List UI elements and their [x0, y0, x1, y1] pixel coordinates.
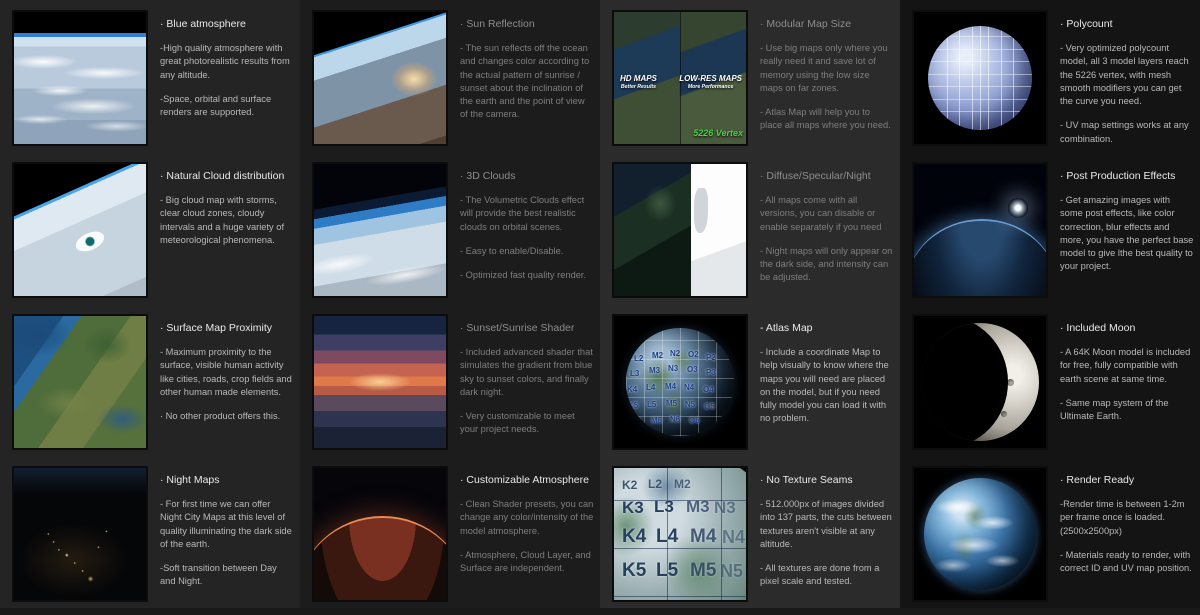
card-paragraph: - The Volumetric Clouds effect will prov… — [460, 194, 594, 234]
atlas-cell: M6 — [651, 416, 662, 425]
lens-flare-icon — [1008, 198, 1028, 218]
feature-card-no-texture-seams[interactable]: K2 L2 M2 K3 L3 M3 N3 K4 L4 M4 N4 K5 L5 M… — [600, 456, 900, 608]
parallel-line — [928, 111, 1032, 112]
atlas-cell: N5 — [685, 400, 695, 409]
card-paragraph: - Maximum proximity to the surface, visi… — [160, 346, 294, 399]
feature-card-diffuse-specular-night[interactable]: · Diffuse/Specular/Night - All maps come… — [600, 152, 900, 304]
atlas-globe: L2 M2 N2 O2 P2 L3 M3 N3 O3 P3 K4 L4 — [626, 328, 734, 436]
atlas-cell: K2 — [622, 478, 637, 492]
card-title: · Blue atmosphere — [160, 18, 294, 31]
atlas-cell: K5 — [622, 560, 646, 582]
card-title: · Sun Reflection — [460, 18, 594, 31]
atlas-cell: M2 — [652, 351, 663, 360]
specular-map-side — [691, 164, 746, 296]
card-copy: · Post Production Effects - Get amazing … — [1048, 162, 1194, 274]
thumbnail-night-maps[interactable] — [12, 466, 148, 602]
card-paragraph: - Clean Shader presets, you can change a… — [460, 498, 594, 538]
full-earth-image — [914, 468, 1046, 600]
card-paragraph: - Use big maps only where you really nee… — [760, 42, 894, 95]
thumbnail-blue-atmosphere[interactable] — [12, 10, 148, 146]
card-title: · Diffuse/Specular/Night — [760, 170, 894, 183]
thumbnail-no-texture-seams[interactable]: K2 L2 M2 K3 L3 M3 N3 K4 L4 M4 N4 K5 L5 M… — [612, 466, 748, 602]
card-title: · No Texture Seams — [760, 474, 894, 487]
atlas-cell: L4 — [656, 526, 678, 548]
atlas-cell: L5 — [647, 400, 656, 409]
feature-card-sunset-sunrise-shader[interactable]: · Sunset/Sunrise Shader - Included advan… — [300, 304, 600, 456]
atlas-cell: K4 — [627, 385, 637, 394]
red-atmosphere-limb-image — [314, 468, 446, 600]
atlas-cell: N2 — [670, 349, 680, 358]
atlas-grid-closeup-image: K2 L2 M2 K3 L3 M3 N3 K4 L4 M4 N4 K5 L5 M… — [614, 468, 746, 600]
parallel-line — [928, 61, 1032, 62]
card-title: · Included Moon — [1060, 322, 1194, 335]
vertex-count-label: 5226 Vertex — [693, 128, 743, 138]
atlas-cell: M3 — [649, 366, 660, 375]
lowres-maps-subtitle: More Performance — [679, 84, 742, 90]
atlas-cell: O4 — [703, 385, 714, 394]
atlas-cell: M4 — [690, 526, 716, 548]
card-paragraph: - The sun reflects off the ocean and cha… — [460, 42, 594, 122]
atlas-cell: P2 — [706, 353, 716, 362]
moon-crater — [993, 353, 1003, 363]
card-copy: · Sunset/Sunrise Shader - Included advan… — [448, 314, 594, 437]
feature-card-polycount[interactable]: · Polycount - Very optimized polycount m… — [900, 0, 1200, 152]
feature-card-render-ready[interactable]: · Render Ready -Render time is between 1… — [900, 456, 1200, 608]
moon-crater — [1007, 379, 1014, 386]
card-paragraph: - Atlas Map will help you to place all m… — [760, 106, 894, 133]
card-paragraph: - Included advanced shader that simulate… — [460, 346, 594, 399]
thumbnail-polycount[interactable] — [912, 10, 1048, 146]
atlas-cell: L4 — [646, 383, 655, 392]
card-copy: · Customizable Atmosphere - Clean Shader… — [448, 466, 594, 575]
meridian-lines — [928, 26, 1032, 130]
card-paragraph: - Big cloud map with storms, clear cloud… — [160, 194, 294, 247]
sun-glint-ocean-image — [314, 12, 446, 144]
card-copy: · Sun Reflection - The sun reflects off … — [448, 10, 594, 122]
parallel-line — [928, 86, 1032, 87]
feature-card-modular-map-size[interactable]: HD MAPS Better Results LOW-RES MAPS More… — [600, 0, 900, 152]
atlas-cell: L6 — [632, 417, 641, 426]
atlas-cell: N4 — [684, 383, 694, 392]
card-paragraph: -Space, orbital and surface renders are … — [160, 93, 294, 120]
card-copy: · Blue atmosphere -High quality atmosphe… — [148, 10, 294, 119]
feature-card-natural-cloud-distribution[interactable]: · Natural Cloud distribution - Big cloud… — [0, 152, 300, 304]
card-copy: · 3D Clouds - The Volumetric Clouds effe… — [448, 162, 594, 282]
atlas-cell: L2 — [634, 354, 643, 363]
card-copy: · Surface Map Proximity - Maximum proxim… — [148, 314, 294, 423]
parallel-line — [928, 74, 1032, 75]
atlas-cell: M2 — [674, 477, 691, 491]
card-title: · Sunset/Sunrise Shader — [460, 322, 594, 335]
card-copy: · Render Ready -Render time is between 1… — [1048, 466, 1194, 575]
atlas-cell: L5 — [656, 560, 678, 582]
thumbnail-modular-map-size[interactable]: HD MAPS Better Results LOW-RES MAPS More… — [612, 10, 748, 146]
thumbnail-natural-cloud-distribution[interactable] — [12, 162, 148, 298]
atlas-cell: O5 — [704, 402, 715, 411]
card-copy: - Atlas Map - Include a coordinate Map t… — [748, 314, 894, 426]
card-copy: · Natural Cloud distribution - Big cloud… — [148, 162, 294, 247]
thumbnail-included-moon[interactable] — [912, 314, 1048, 450]
card-title: · Customizable Atmosphere — [460, 474, 594, 487]
feature-card-blue-atmosphere[interactable]: · Blue atmosphere -High quality atmosphe… — [0, 0, 300, 152]
thumbnail-diffuse-specular-night[interactable] — [612, 162, 748, 298]
coastline-surface-image — [14, 316, 146, 448]
moon-crater — [987, 397, 999, 409]
feature-card-surface-map-proximity[interactable]: · Surface Map Proximity - Maximum proxim… — [0, 304, 300, 456]
feature-sheet: · Blue atmosphere -High quality atmosphe… — [0, 0, 1200, 615]
card-copy: · No Texture Seams - 512.000px of images… — [748, 466, 894, 589]
atlas-cell: N3 — [668, 364, 678, 373]
hd-maps-label: HD MAPS Better Results — [620, 74, 657, 90]
card-paragraph: - 512.000px of images divided into 137 p… — [760, 498, 894, 551]
card-paragraph: -Render time is between 1-2m per frame o… — [1060, 498, 1194, 538]
lowres-maps-label: LOW-RES MAPS More Performance — [679, 74, 742, 90]
card-paragraph: - Very optimized polycount model, all 3 … — [1060, 42, 1194, 108]
earth-limb-flare-image — [914, 164, 1046, 296]
atlas-cell: L3 — [654, 497, 674, 517]
atlas-cell: O2 — [688, 350, 699, 359]
atlas-cell: M5 — [666, 399, 677, 408]
card-copy: · Polycount - Very optimized polycount m… — [1048, 10, 1194, 146]
earth-sphere — [924, 478, 1036, 590]
card-title: - Atlas Map — [760, 322, 894, 335]
card-paragraph: - A 64K Moon model is included for free,… — [1060, 346, 1194, 386]
card-paragraph: - Easy to enable/Disable. — [460, 245, 594, 258]
card-paragraph: - All maps come with all versions, you c… — [760, 194, 894, 234]
card-paragraph: - Include a coordinate Map to help visua… — [760, 346, 894, 426]
thumbnail-sunset-sunrise-shader[interactable] — [312, 314, 448, 450]
hd-vs-lowres-map-image: HD MAPS Better Results LOW-RES MAPS More… — [614, 12, 746, 144]
card-title: · Render Ready — [1060, 474, 1194, 487]
parallel-line — [928, 49, 1032, 50]
card-paragraph: - Optimized fast quality render. — [460, 269, 594, 282]
night-city-lights-image — [14, 468, 146, 600]
atlas-cell: L2 — [648, 477, 662, 491]
atlas-cell: N6 — [670, 415, 680, 424]
parallel-line — [928, 99, 1032, 100]
feature-card-sun-reflection[interactable]: · Sun Reflection - The sun reflects off … — [300, 0, 600, 152]
thumbnail-atlas-map[interactable]: L2 M2 N2 O2 P2 L3 M3 N3 O3 P3 K4 L4 — [612, 314, 748, 450]
card-paragraph: · No other product offers this. — [160, 410, 294, 423]
atlas-cell-labels: L2 M2 N2 O2 P2 L3 M3 N3 O3 P3 K4 L4 — [626, 328, 734, 436]
atlas-cell: K5 — [628, 401, 638, 410]
diffuse-map-side — [614, 164, 691, 296]
map-split-image — [614, 164, 746, 296]
card-paragraph: - Night maps will only appear on the dar… — [760, 245, 894, 285]
thumbnail-sun-reflection[interactable] — [312, 10, 448, 146]
parallel-line — [928, 36, 1032, 37]
atlas-cell: O3 — [687, 365, 698, 374]
card-paragraph: - UV map settings works at any combinati… — [1060, 119, 1194, 146]
card-paragraph: - All textures are done from a pixel sca… — [760, 562, 894, 589]
card-copy: · Night Maps - For first time we can off… — [148, 466, 294, 589]
atlas-cell: M3 — [686, 497, 710, 517]
atlas-cell: K4 — [622, 526, 646, 548]
atlas-cell: N5 — [720, 561, 743, 582]
atlas-cell: M5 — [690, 560, 716, 582]
sunset-gradient-image — [314, 316, 446, 448]
thumbnail-post-production-effects[interactable] — [912, 162, 1048, 298]
feature-card-customizable-atmosphere[interactable]: · Customizable Atmosphere - Clean Shader… — [300, 456, 600, 608]
feature-card-atlas-map[interactable]: L2 M2 N2 O2 P2 L3 M3 N3 O3 P3 K4 L4 — [600, 304, 900, 456]
card-paragraph: - Materials ready to render, with correc… — [1060, 549, 1194, 576]
card-paragraph: - Very customizable to meet your project… — [460, 410, 594, 437]
atlas-cell: N4 — [722, 527, 745, 548]
volumetric-clouds-image — [314, 164, 446, 296]
feature-card-night-maps[interactable]: · Night Maps - For first time we can off… — [0, 456, 300, 608]
card-paragraph: - Same map system of the Ultimate Earth. — [1060, 397, 1194, 424]
atlas-cell: N3 — [714, 498, 736, 518]
card-paragraph: - Atmosphere, Cloud Layer, and Surface a… — [460, 549, 594, 576]
thumbnail-customizable-atmosphere[interactable] — [312, 466, 448, 602]
moon-sphere — [921, 323, 1039, 441]
card-paragraph: -High quality atmosphere with great phot… — [160, 42, 294, 82]
card-copy: · Included Moon - A 64K Moon model is in… — [1048, 314, 1194, 423]
atlas-cell: O6 — [689, 416, 700, 425]
hurricane-limb-image — [14, 164, 146, 296]
thumbnail-render-ready[interactable] — [912, 466, 1048, 602]
card-copy: · Modular Map Size - Use big maps only w… — [748, 10, 894, 133]
atlas-coordinate-globe-image: L2 M2 N2 O2 P2 L3 M3 N3 O3 P3 K4 L4 — [614, 316, 746, 448]
feature-grid: · Blue atmosphere -High quality atmosphe… — [0, 0, 1200, 615]
feature-card-included-moon[interactable]: · Included Moon - A 64K Moon model is in… — [900, 304, 1200, 456]
card-paragraph: -Soft transition between Day and Night. — [160, 562, 294, 589]
moon-crater — [1001, 411, 1007, 417]
card-paragraph: - For first time we can offer Night City… — [160, 498, 294, 551]
card-paragraph: - Get amazing images with some post effe… — [1060, 194, 1194, 274]
hd-maps-title: HD MAPS — [620, 74, 657, 83]
card-title: · Polycount — [1060, 18, 1194, 31]
feature-card-post-production-effects[interactable]: · Post Production Effects - Get amazing … — [900, 152, 1200, 304]
card-copy: · Diffuse/Specular/Night - All maps come… — [748, 162, 894, 285]
card-title: · Post Production Effects — [1060, 170, 1194, 183]
crescent-moon-image — [914, 316, 1046, 448]
wireframe-sphere-image — [914, 12, 1046, 144]
card-title: · Natural Cloud distribution — [160, 170, 294, 183]
earth-limb-clouds-image — [14, 12, 146, 144]
thumbnail-surface-map-proximity[interactable] — [12, 314, 148, 450]
atlas-cell: K3 — [622, 498, 644, 518]
thumbnail-3d-clouds[interactable] — [312, 162, 448, 298]
card-title: · Modular Map Size — [760, 18, 894, 31]
atlas-cell: M4 — [665, 382, 676, 391]
hd-maps-subtitle: Better Results — [620, 84, 657, 90]
lowres-maps-title: LOW-RES MAPS — [679, 74, 742, 83]
feature-card-3d-clouds[interactable]: · 3D Clouds - The Volumetric Clouds effe… — [300, 152, 600, 304]
atlas-cell: L3 — [630, 369, 639, 378]
card-title: · Surface Map Proximity — [160, 322, 294, 335]
atlas-cell: P3 — [706, 368, 716, 377]
card-title: · 3D Clouds — [460, 170, 594, 183]
wireframe-sphere — [928, 26, 1032, 130]
card-title: · Night Maps — [160, 474, 294, 487]
earth-clouds — [924, 478, 1036, 590]
